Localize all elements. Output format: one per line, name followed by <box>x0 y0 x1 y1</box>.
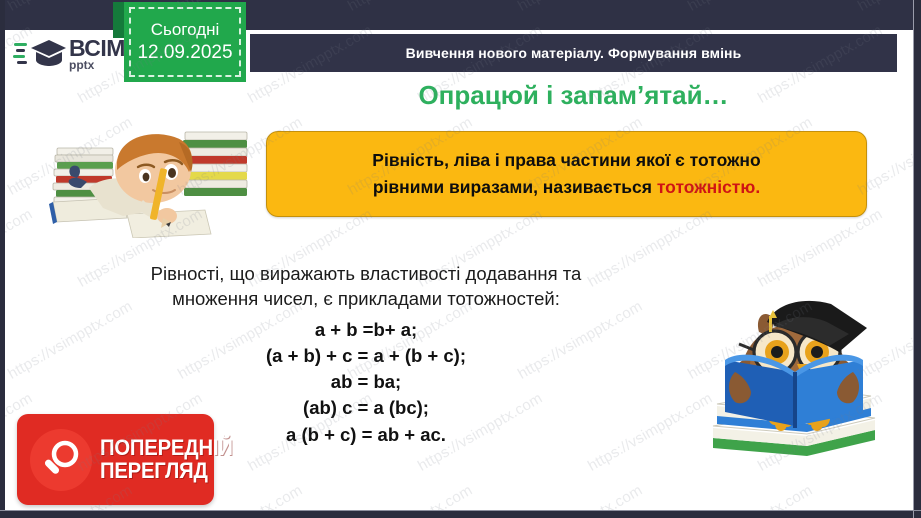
boy-writing-illustration <box>27 110 265 238</box>
definition-highlight-term: тотожністю. <box>657 177 760 197</box>
magnifier-icon <box>30 429 92 491</box>
formula-item: (a + b) + c = a + (b + c); <box>93 343 639 369</box>
section-title: Опрацюй і запам’ятай… <box>250 80 897 111</box>
watermark-text: https://vsimpptx.com <box>345 482 475 510</box>
watermark-text: https://vsimpptx.com <box>855 482 913 510</box>
watermark-text: https://vsimpptx.com <box>755 206 885 291</box>
definition-line-2-text: рівними виразами, називається <box>373 177 657 197</box>
brand-name: ВСІМ <box>69 37 125 60</box>
brand-logo-text: ВСІМ pptx <box>69 37 125 71</box>
header-banner: Вивчення нового матеріалу. Формування вм… <box>250 34 897 72</box>
formula-item: a + b =b+ a; <box>93 317 639 343</box>
brand-suffix: pptx <box>69 59 125 71</box>
header-banner-text: Вивчення нового матеріалу. Формування вм… <box>406 45 742 61</box>
slide-canvas: ВСІМ pptx Сьогодні 12.09.2025 Вивчення н… <box>5 0 913 510</box>
watermark-text: https://vsimpptx.com <box>685 482 815 510</box>
preview-badge-line-2: ПЕРЕГЛЯД <box>100 460 233 482</box>
definition-line-1: Рівність, ліва і права частини якої є то… <box>372 147 760 174</box>
date-badge: Сьогодні 12.09.2025 <box>124 2 246 82</box>
formula-item: ab = ba; <box>93 369 639 395</box>
owl-graduate-illustration <box>699 288 889 466</box>
frame-right-edge <box>913 0 914 518</box>
preview-badge-line-1: ПОПЕРЕДНІЙ <box>100 437 233 459</box>
frame-bottom-edge <box>0 510 921 511</box>
date-badge-label: Сьогодні <box>151 20 220 40</box>
preview-badge-text: ПОПЕРЕДНІЙ ПЕРЕГЛЯД <box>100 437 244 482</box>
definition-line-2: рівними виразами, називається тотожністю… <box>373 174 760 201</box>
watermark-text: https://vsimpptx.com <box>515 482 645 510</box>
slide-frame: ВСІМ pptx Сьогодні 12.09.2025 Вивчення н… <box>0 0 921 518</box>
definition-box: Рівність, ліва і права частини якої є то… <box>266 131 867 217</box>
body-line-2: множення чисел, є прикладами тотожностей… <box>93 287 639 312</box>
body-line-1: Рівності, що виражають властивості додав… <box>93 262 639 287</box>
graduation-cap-icon <box>13 36 67 72</box>
preview-badge[interactable]: ПОПЕРЕДНІЙ ПЕРЕГЛЯД <box>17 414 214 505</box>
date-badge-value: 12.09.2025 <box>137 42 232 64</box>
